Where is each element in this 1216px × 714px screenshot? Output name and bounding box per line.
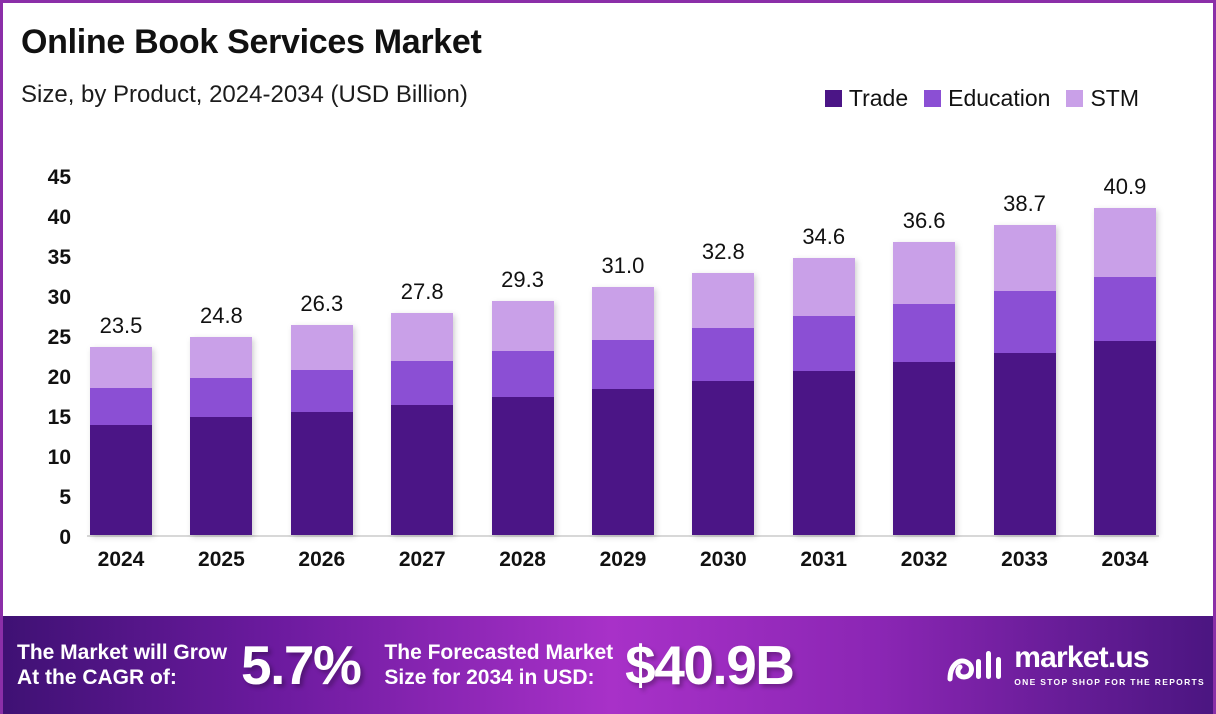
y-axis-tick: 45 [23, 166, 71, 190]
bar-stack[interactable] [291, 325, 353, 535]
bar-segment-stm[interactable] [793, 258, 855, 316]
square-swatch-icon [924, 90, 941, 107]
bar-column[interactable]: 36.6 [890, 175, 958, 535]
bar-column[interactable]: 26.3 [288, 175, 356, 535]
bar-segment-education[interactable] [391, 361, 453, 405]
bar-segment-trade[interactable] [692, 381, 754, 535]
x-axis-label: 2029 [589, 548, 657, 572]
x-axis-label: 2031 [790, 548, 858, 572]
brand-logo[interactable]: market.us ONE STOP SHOP FOR THE REPORTS [944, 643, 1205, 687]
bar-total-label: 36.6 [903, 208, 946, 234]
y-axis-tick: 10 [23, 446, 71, 470]
x-axis-label: 2032 [890, 548, 958, 572]
x-axis-label: 2024 [87, 548, 155, 572]
forecast-value: $40.9B [625, 633, 793, 697]
bar-segment-education[interactable] [190, 378, 252, 417]
bar-series-container: 23.524.826.327.829.331.032.834.636.638.7… [87, 175, 1159, 535]
legend-label-trade: Trade [849, 85, 908, 112]
bar-segment-trade[interactable] [190, 417, 252, 535]
bar-segment-stm[interactable] [692, 273, 754, 328]
y-axis-tick: 35 [23, 246, 71, 270]
bar-column[interactable]: 40.9 [1091, 175, 1159, 535]
brand-tagline: ONE STOP SHOP FOR THE REPORTS [1014, 677, 1205, 687]
x-axis-label: 2030 [689, 548, 757, 572]
bar-segment-trade[interactable] [994, 353, 1056, 535]
y-axis-tick: 25 [23, 326, 71, 350]
y-axis-tick: 30 [23, 286, 71, 310]
cagr-caption: The Market will Grow At the CAGR of: [17, 640, 227, 690]
y-axis-tick: 20 [23, 366, 71, 390]
bar-segment-trade[interactable] [291, 412, 353, 535]
bar-total-label: 31.0 [602, 253, 645, 279]
bar-segment-education[interactable] [90, 388, 152, 425]
page-subtitle: Size, by Product, 2024-2034 (USD Billion… [21, 81, 468, 109]
forecast-caption-block: The Forecasted Market Size for 2034 in U… [384, 640, 613, 690]
x-axis-label: 2025 [187, 548, 255, 572]
bar-stack[interactable] [793, 258, 855, 535]
bar-segment-trade[interactable] [391, 405, 453, 535]
bar-total-label: 23.5 [100, 313, 143, 339]
bar-column[interactable]: 32.8 [689, 175, 757, 535]
bar-segment-stm[interactable] [893, 242, 955, 304]
x-axis-label: 2034 [1091, 548, 1159, 572]
bar-segment-trade[interactable] [1094, 341, 1156, 535]
bar-segment-education[interactable] [592, 340, 654, 389]
y-axis-tick: 15 [23, 406, 71, 430]
bar-stack[interactable] [994, 225, 1056, 535]
cagr-value-block: 5.7% [241, 633, 360, 697]
bar-segment-stm[interactable] [190, 337, 252, 379]
bar-stack[interactable] [391, 313, 453, 535]
bar-segment-education[interactable] [893, 304, 955, 362]
legend-item-education[interactable]: Education [924, 85, 1050, 112]
bar-segment-education[interactable] [1094, 277, 1156, 341]
bar-total-label: 38.7 [1003, 191, 1046, 217]
forecast-value-block: $40.9B [625, 633, 793, 697]
bar-column[interactable]: 24.8 [187, 175, 255, 535]
cagr-value: 5.7% [241, 633, 360, 697]
chart-header: Online Book Services Market Size, by Pro… [3, 3, 1213, 123]
bar-total-label: 24.8 [200, 303, 243, 329]
bar-segment-education[interactable] [291, 370, 353, 412]
footer-banner: The Market will Grow At the CAGR of: 5.7… [3, 616, 1216, 714]
bar-total-label: 34.6 [802, 224, 845, 250]
x-axis-label: 2027 [388, 548, 456, 572]
legend-label-stm: STM [1090, 85, 1139, 112]
bar-segment-stm[interactable] [291, 325, 353, 371]
bar-stack[interactable] [592, 287, 654, 535]
bar-stack[interactable] [692, 273, 754, 535]
y-axis-tick: 5 [23, 486, 71, 510]
brand-name: market.us [1014, 643, 1149, 673]
bar-segment-trade[interactable] [793, 371, 855, 535]
brand-text: market.us ONE STOP SHOP FOR THE REPORTS [1014, 643, 1205, 687]
square-swatch-icon [825, 90, 842, 107]
x-axis-label: 2026 [288, 548, 356, 572]
bar-total-label: 27.8 [401, 279, 444, 305]
bar-column[interactable]: 34.6 [790, 175, 858, 535]
bar-total-label: 29.3 [501, 267, 544, 293]
bar-total-label: 40.9 [1103, 174, 1146, 200]
legend-label-education: Education [948, 85, 1050, 112]
x-axis-baseline [87, 535, 1159, 537]
bar-segment-trade[interactable] [893, 362, 955, 535]
legend-item-stm[interactable]: STM [1066, 85, 1139, 112]
forecast-caption: The Forecasted Market Size for 2034 in U… [384, 640, 613, 690]
bar-stack[interactable] [190, 337, 252, 535]
bar-segment-trade[interactable] [592, 389, 654, 535]
bar-column[interactable]: 29.3 [489, 175, 557, 535]
bar-column[interactable]: 31.0 [589, 175, 657, 535]
x-axis-label: 2028 [489, 548, 557, 572]
bar-stack[interactable] [1094, 208, 1156, 535]
bar-column[interactable]: 27.8 [388, 175, 456, 535]
bar-segment-stm[interactable] [90, 347, 152, 388]
bar-segment-education[interactable] [793, 316, 855, 371]
cagr-caption-block: The Market will Grow At the CAGR of: [17, 640, 227, 690]
bar-stack[interactable] [893, 242, 955, 535]
bar-segment-stm[interactable] [391, 313, 453, 361]
bar-stack[interactable] [492, 301, 554, 535]
bar-segment-education[interactable] [692, 328, 754, 381]
bar-segment-stm[interactable] [592, 287, 654, 340]
bar-segment-stm[interactable] [492, 301, 554, 351]
market-us-waveform-icon [944, 645, 1006, 685]
bar-segment-education[interactable] [994, 291, 1056, 353]
chart-legend: Trade Education STM [825, 85, 1139, 112]
chart-plot-area: 454035302520151050 23.524.826.327.829.33… [3, 123, 1216, 603]
bar-segment-education[interactable] [492, 351, 554, 397]
bar-column[interactable]: 23.5 [87, 175, 155, 535]
y-axis-tick: 40 [23, 206, 71, 230]
page-title: Online Book Services Market [21, 23, 482, 62]
infographic-canvas: Online Book Services Market Size, by Pro… [0, 0, 1216, 714]
bar-segment-stm[interactable] [994, 225, 1056, 291]
x-axis-label: 2033 [991, 548, 1059, 572]
bar-column[interactable]: 38.7 [991, 175, 1059, 535]
bar-stack[interactable] [90, 347, 152, 535]
bar-segment-trade[interactable] [90, 425, 152, 535]
bar-total-label: 32.8 [702, 239, 745, 265]
bar-total-label: 26.3 [300, 291, 343, 317]
bar-segment-trade[interactable] [492, 397, 554, 535]
y-axis-tick: 0 [23, 526, 71, 550]
y-axis: 454035302520151050 [23, 178, 71, 538]
legend-item-trade[interactable]: Trade [825, 85, 908, 112]
bar-segment-stm[interactable] [1094, 208, 1156, 277]
x-axis-labels: 2024202520262027202820292030203120322033… [87, 548, 1159, 572]
square-swatch-icon [1066, 90, 1083, 107]
